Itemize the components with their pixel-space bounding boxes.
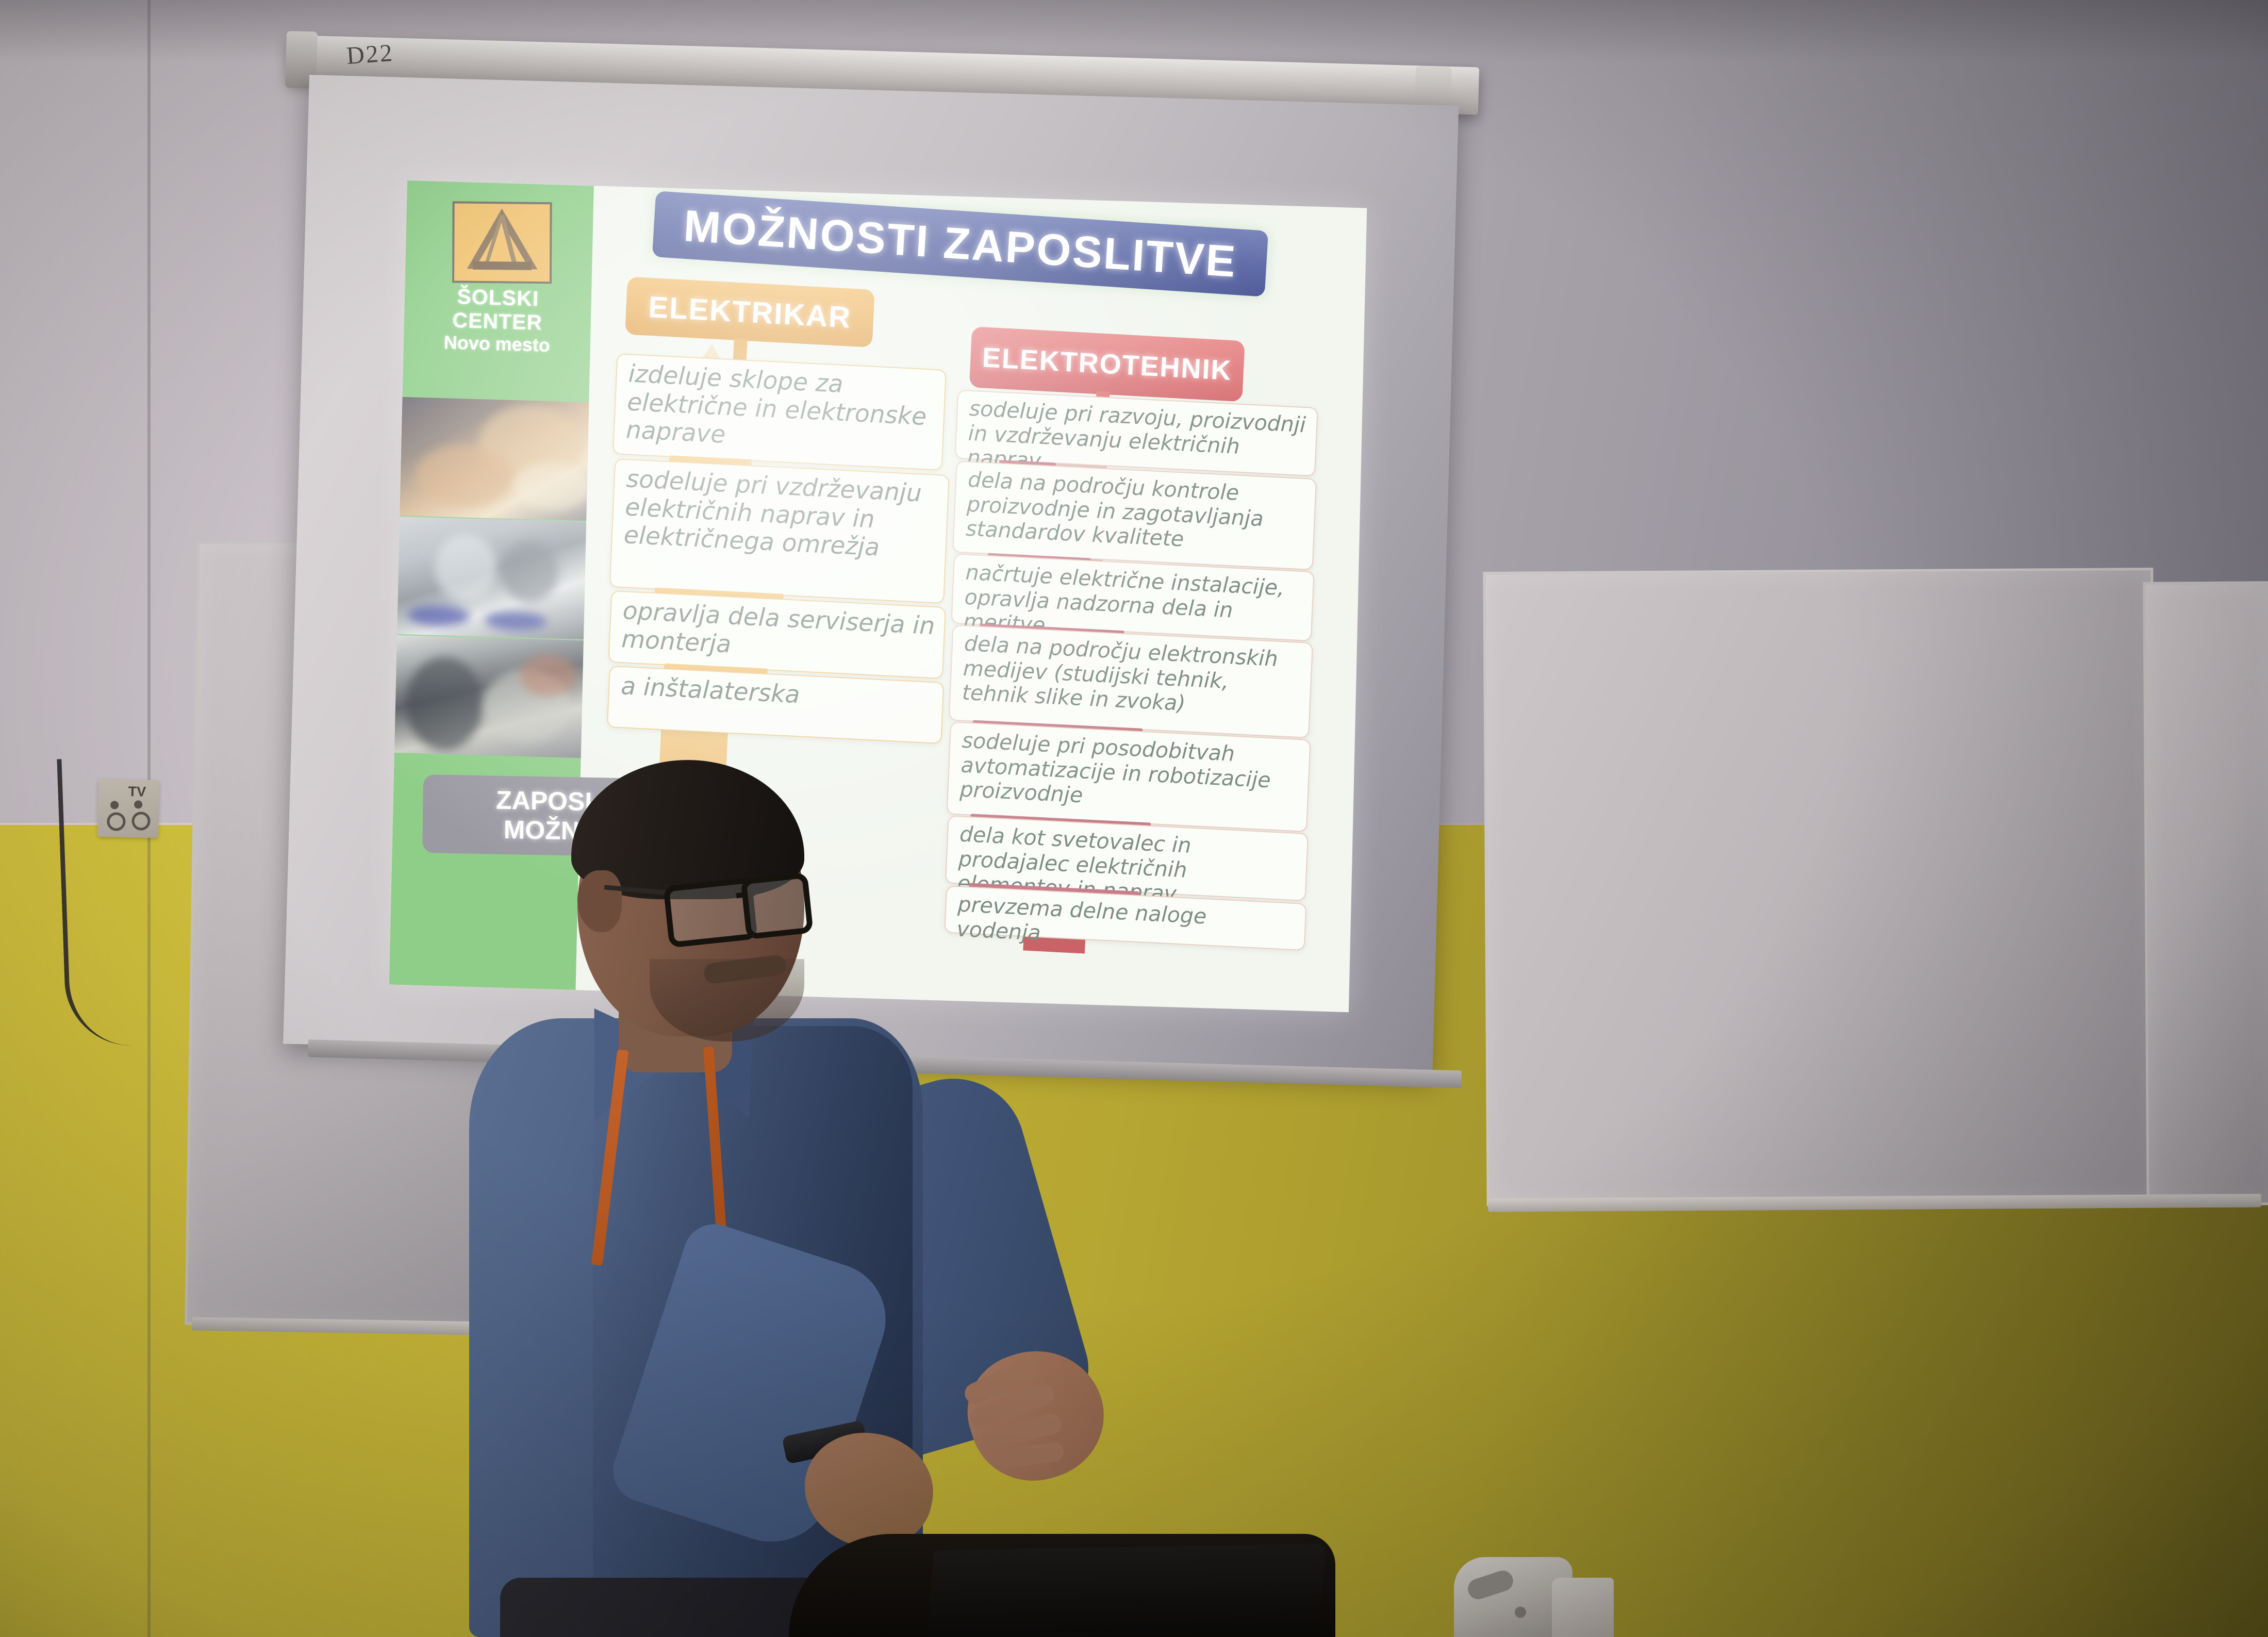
triangle-logo: [452, 201, 552, 284]
secondary-device: [1552, 1578, 1614, 1637]
pill-tail-left: [733, 338, 748, 361]
wall-room-marking: D22: [345, 39, 394, 70]
projector-lens-slot: [1465, 1568, 1516, 1602]
socket-tv-label: TV: [128, 784, 146, 800]
school-name: ŠOLSKI CENTER Novo mesto: [403, 284, 591, 357]
slide-title: MOŽNOSTI ZAPOSLITVE: [682, 200, 1238, 287]
projector-indicator: [1515, 1607, 1526, 1618]
list-item: opravlja dela serviserja in monterja: [608, 590, 946, 679]
classroom-presentation-scene: TV D22 ŠOLSKI CENTER Novo mesto: [0, 0, 2268, 1637]
whiteboard-panel-right: [1483, 568, 2157, 1206]
list-item: izdeluje sklope za električne in elektro…: [612, 353, 947, 471]
presenter-person: [423, 737, 1114, 1637]
list-item: a inštalaterska: [607, 666, 945, 744]
laptop-device[interactable]: [927, 1543, 1326, 1637]
slide-title-banner: MOŽNOSTI ZAPOSLITVE: [652, 191, 1268, 297]
list-item: sodeluje pri vzdrževanju električnih nap…: [609, 458, 950, 604]
column-heading-elektrikar: ELEKTRIKAR: [625, 277, 875, 348]
elektrotehnik-label: ELEKTROTEHNIK: [982, 341, 1233, 387]
photo-strip: [394, 397, 589, 758]
presenter-ear: [577, 870, 622, 932]
glasses-lens-right: [740, 872, 814, 940]
photo-soldering-hands: [400, 397, 589, 521]
photo-lab-bench: [397, 517, 586, 639]
whiteboard-panel-far-right: [2143, 581, 2268, 1206]
elektrikar-label: ELEKTRIKAR: [648, 289, 852, 335]
column-heading-elektrotehnik: ELEKTROTEHNIK: [969, 326, 1245, 402]
